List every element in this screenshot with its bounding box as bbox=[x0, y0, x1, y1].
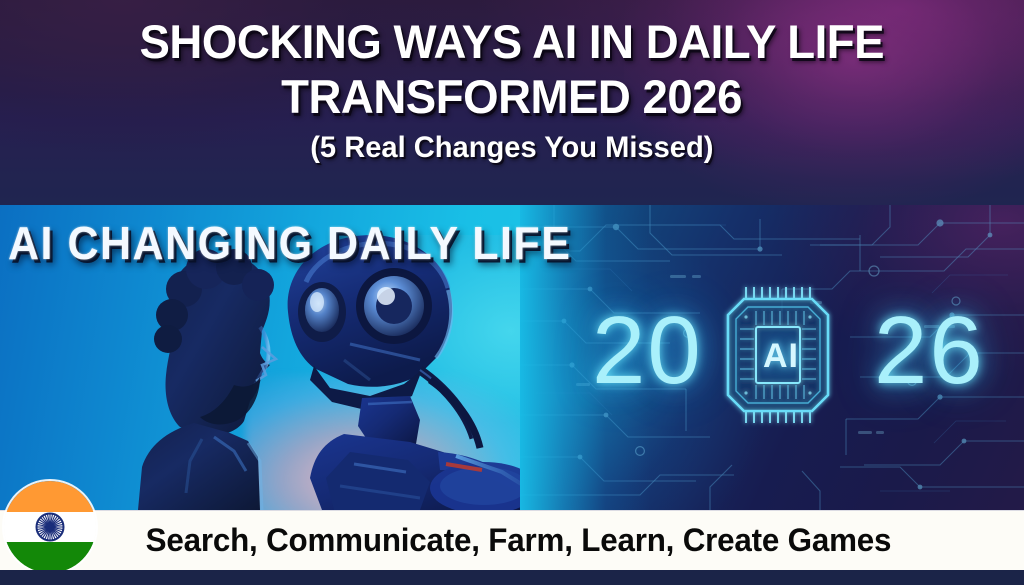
footer-strip bbox=[0, 570, 1024, 585]
ai-chip-icon: AI bbox=[716, 281, 846, 429]
year-prefix-2026: 20 bbox=[592, 303, 703, 399]
header-banner: SHOCKING WAYS AI IN DAILY LIFE TRANSFORM… bbox=[0, 0, 1024, 205]
thumbnail-canvas: SHOCKING WAYS AI IN DAILY LIFE TRANSFORM… bbox=[0, 0, 1024, 585]
bottom-caption-bar: Search, Communicate, Farm, Learn, Create… bbox=[0, 510, 1024, 570]
year-suffix-2026: 26 bbox=[874, 303, 985, 399]
hero-overlay-headline: AI CHANGING DAILY LIFE bbox=[8, 219, 571, 269]
india-flag-icon bbox=[4, 481, 96, 573]
page-title-line-1: SHOCKING WAYS AI IN DAILY LIFE bbox=[140, 14, 885, 69]
page-subtitle: (5 Real Changes You Missed) bbox=[310, 128, 713, 168]
page-title-line-2: TRANSFORMED 2026 bbox=[282, 69, 743, 124]
circuit-board-panel: 20 26 bbox=[520, 205, 1024, 510]
bottom-caption-text: Search, Communicate, Farm, Learn, Create… bbox=[146, 522, 892, 559]
ai-chip-label: AI bbox=[716, 337, 846, 376]
title-block: SHOCKING WAYS AI IN DAILY LIFE TRANSFORM… bbox=[0, 0, 1024, 205]
hero-image-area: 20 26 bbox=[0, 205, 1024, 510]
